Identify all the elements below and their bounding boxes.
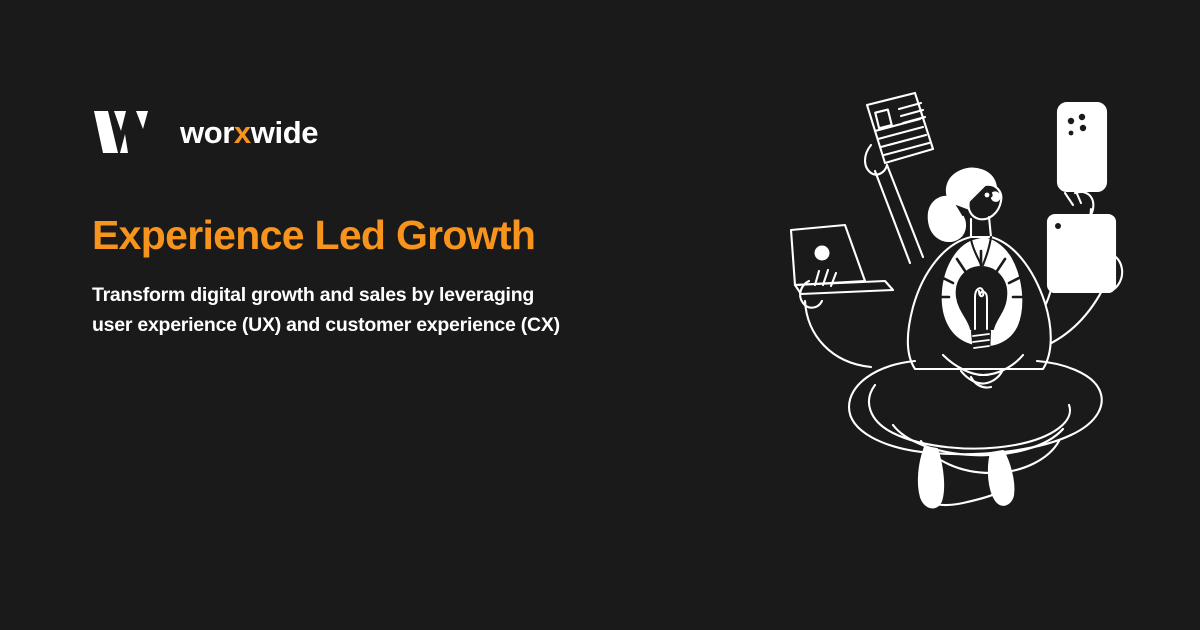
hero-banner: worxwide Experience Led Growth Transform… <box>0 0 1200 630</box>
hero-text-column: worxwide Experience Led Growth Transform… <box>92 106 652 341</box>
multitasking-person-illustration <box>775 85 1150 555</box>
brand-logo[interactable]: worxwide <box>92 106 652 158</box>
hero-illustration <box>775 85 1150 555</box>
brand-word-part2: wide <box>251 115 318 150</box>
page-title: Experience Led Growth <box>92 213 652 258</box>
subtitle-line-2: user experience (UX) and customer experi… <box>92 310 652 340</box>
brand-word-part1: wor <box>180 115 234 150</box>
brand-word-accent: x <box>234 115 251 150</box>
worxwide-w-monogram-icon <box>92 109 154 155</box>
feet <box>919 447 1013 507</box>
smartphone-icon <box>1058 103 1106 191</box>
person-head <box>929 169 1002 241</box>
page-subtitle: Transform digital growth and sales by le… <box>92 280 652 340</box>
brand-wordmark: worxwide <box>180 117 318 148</box>
arm-holding-document <box>865 145 923 263</box>
crossed-legs-robe <box>849 361 1102 473</box>
document-paper-icon <box>867 93 933 163</box>
subtitle-line-1: Transform digital growth and sales by le… <box>92 280 652 310</box>
tablet-icon <box>1048 215 1115 292</box>
